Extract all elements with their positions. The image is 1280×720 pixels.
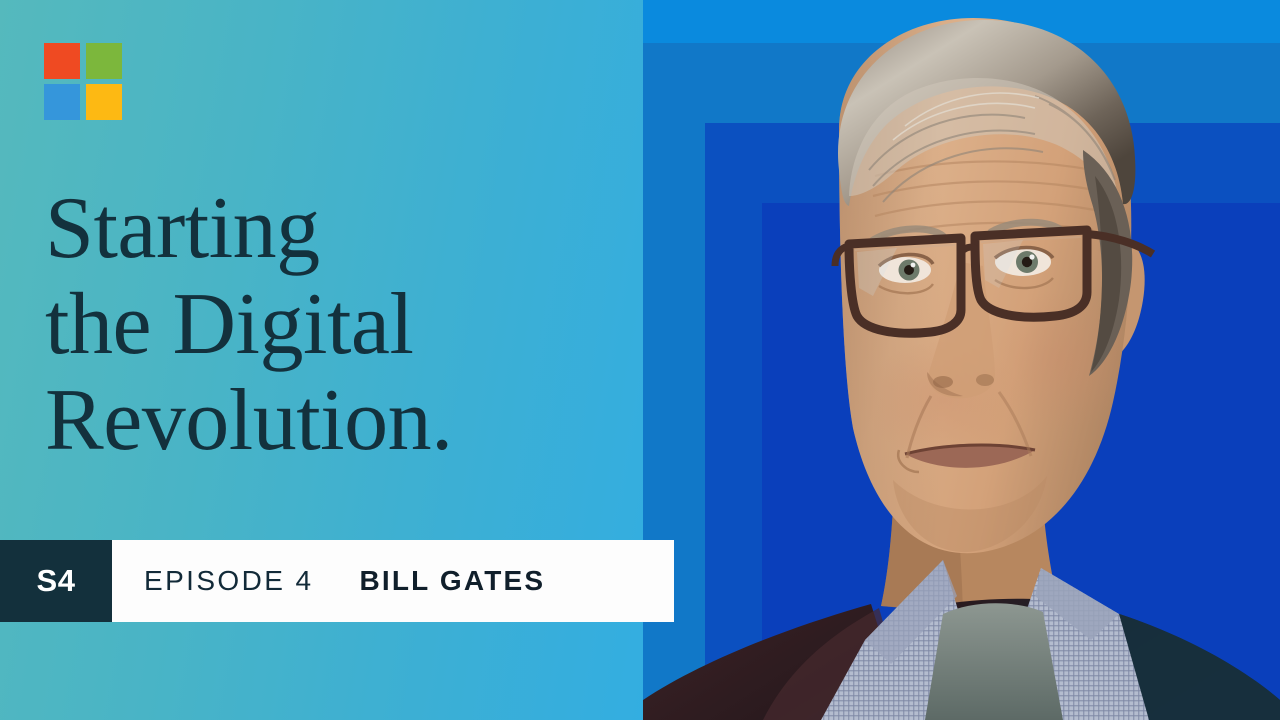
season-label: S4 — [37, 563, 76, 599]
episode-info-bar: EPISODE 4 BILL GATES — [112, 540, 674, 622]
episode-title: Starting the Digital Revolution. — [45, 181, 635, 469]
left-title-panel: Starting the Digital Revolution. S4 EPIS… — [0, 0, 643, 720]
microsoft-logo-square-green — [86, 43, 122, 79]
episode-cover-card: Starting the Digital Revolution. S4 EPIS… — [0, 0, 1280, 720]
guest-portrait-photo — [643, 0, 1280, 720]
episode-number-label: EPISODE 4 — [144, 565, 313, 597]
season-badge: S4 — [0, 540, 112, 622]
microsoft-logo-square-yellow — [86, 84, 122, 120]
microsoft-logo-icon[interactable] — [44, 43, 122, 120]
microsoft-logo-square-red — [44, 43, 80, 79]
episode-banner: S4 EPISODE 4 BILL GATES — [0, 540, 674, 622]
microsoft-logo-square-blue — [44, 84, 80, 120]
inner-shirt — [925, 603, 1063, 720]
guest-name-label: BILL GATES — [359, 565, 545, 597]
